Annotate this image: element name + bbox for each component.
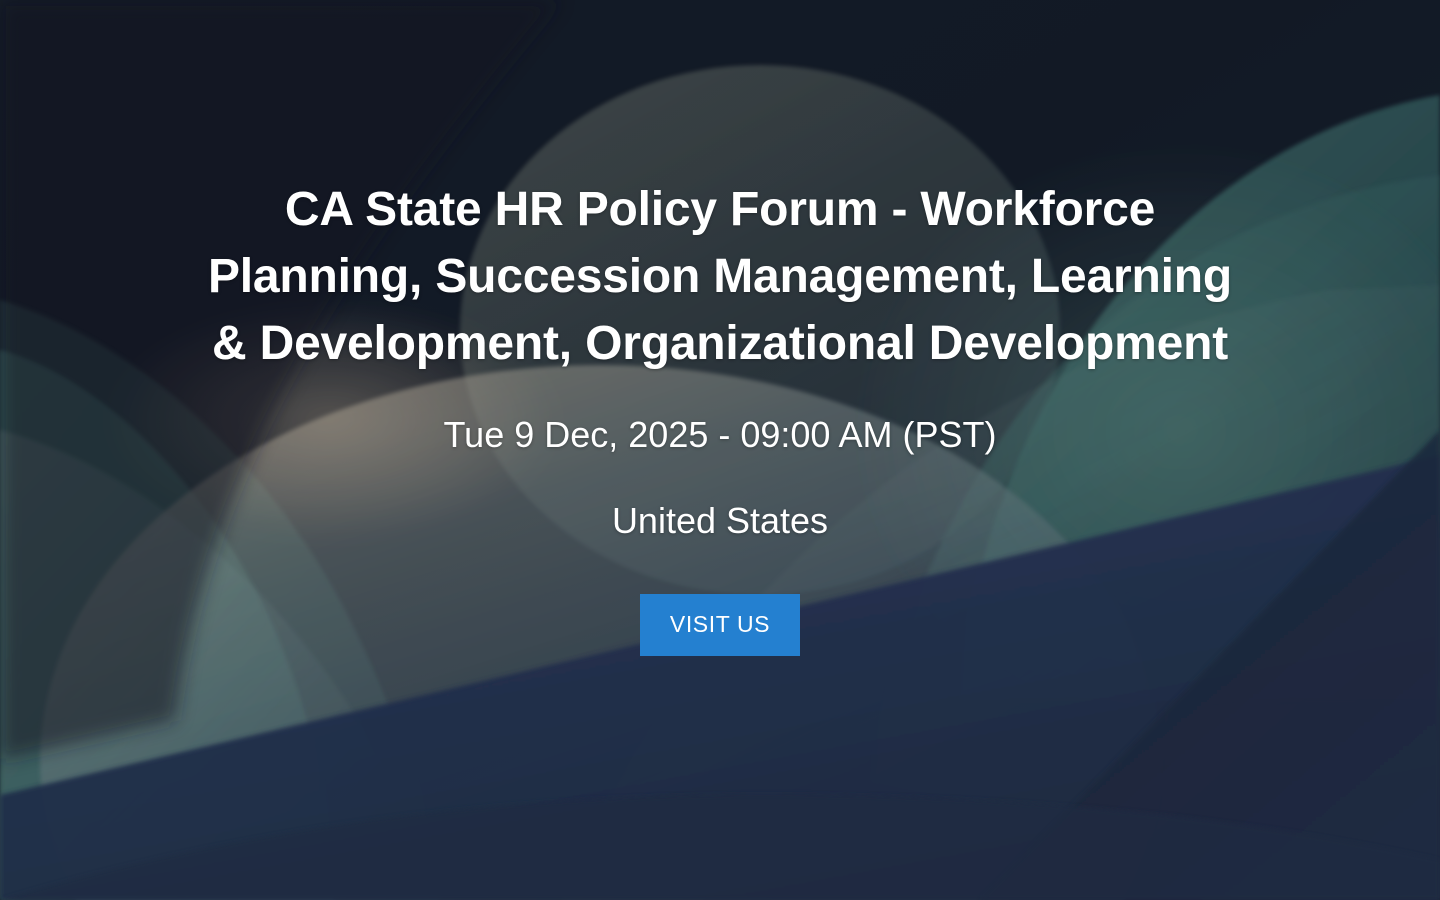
event-banner: CA State HR Policy Forum - Workforce Pla… [0, 0, 1440, 900]
banner-content: CA State HR Policy Forum - Workforce Pla… [0, 0, 1440, 900]
visit-us-button[interactable]: VISIT US [640, 594, 800, 656]
event-title: CA State HR Policy Forum - Workforce Pla… [205, 176, 1235, 377]
event-location: United States [612, 457, 828, 543]
cta-container: VISIT US [640, 543, 800, 656]
event-date: Tue 9 Dec, 2025 - 09:00 AM (PST) [444, 377, 997, 457]
